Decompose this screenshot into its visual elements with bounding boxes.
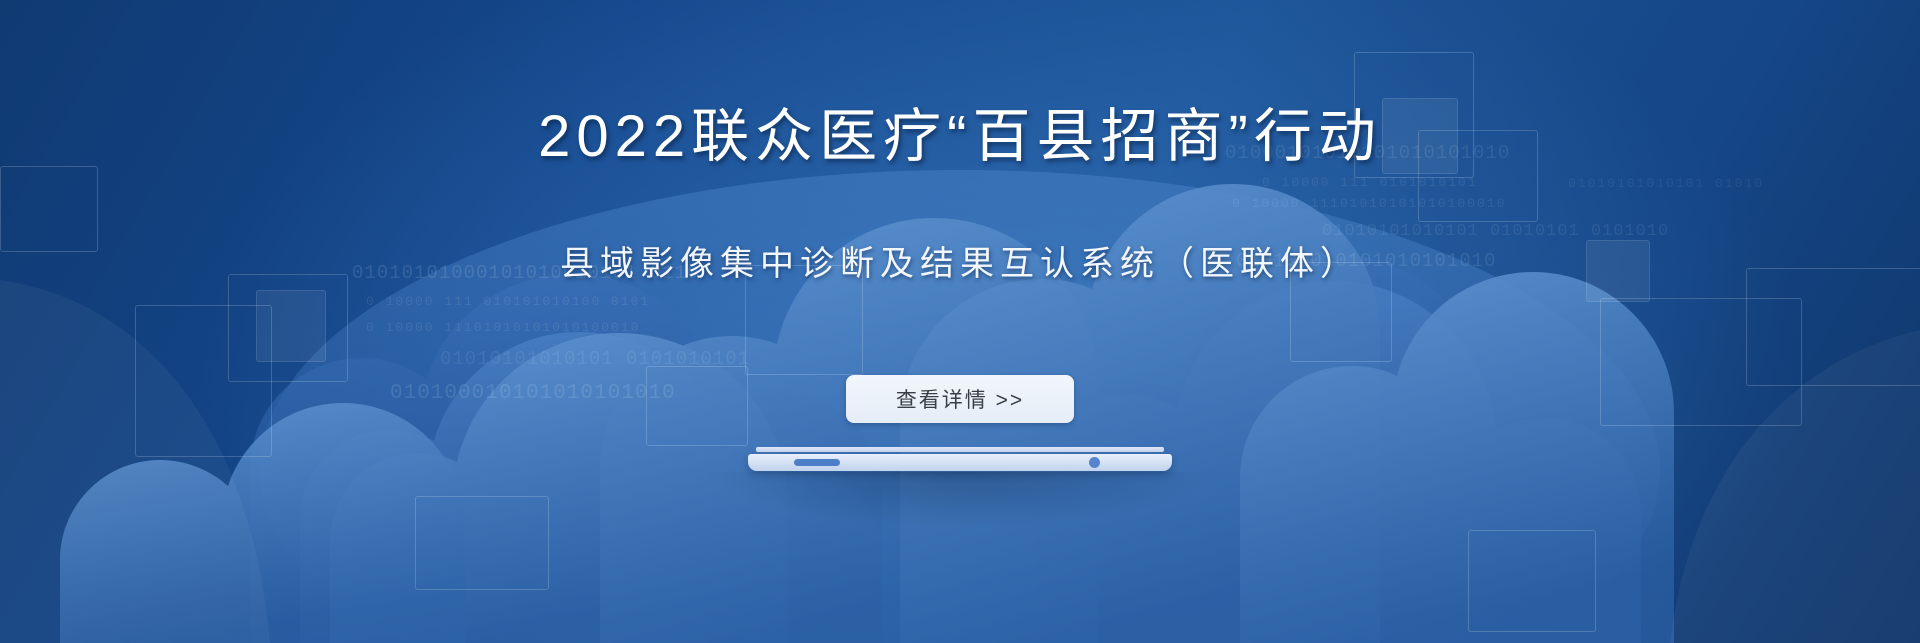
banner-title: 2022联众医疗“百县招商”行动 [538,108,1382,166]
view-details-button[interactable]: 查看详情 >> [846,375,1074,423]
banner-subtitle: 县域影像集中诊断及结果互认系统（医联体） [560,247,1360,281]
banner-content: 2022联众医疗“百县招商”行动 县域影像集中诊断及结果互认系统（医联体） 查看… [0,0,1920,643]
promo-banner: 01010101000101010010101 0110 0 10000 111… [0,0,1920,643]
